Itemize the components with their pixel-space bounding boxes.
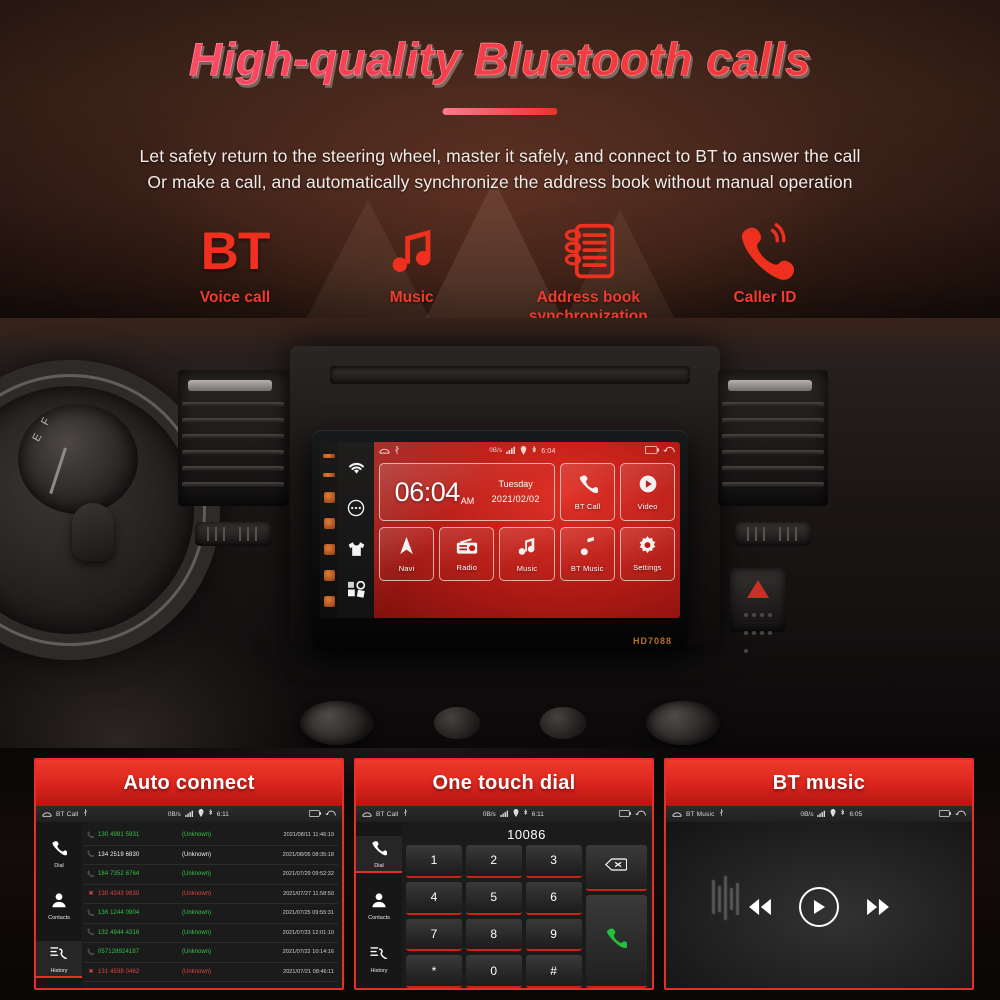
key-9[interactable]: 9 <box>526 919 582 952</box>
battery-icon <box>619 810 631 819</box>
battery-icon <box>645 446 659 456</box>
car-head-unit: 0B/s 6:04 <box>312 430 688 648</box>
phone-handset-icon <box>51 843 67 860</box>
clock-time: 06:04 <box>395 477 460 507</box>
hazard-triangle-icon <box>747 580 769 598</box>
call-timestamp: 2021/07/27 11:58:50 <box>244 891 338 897</box>
console-slot <box>330 366 690 384</box>
subtitle-line-1: Let safety return to the steering wheel,… <box>0 143 1000 169</box>
back-icon[interactable] <box>635 810 646 819</box>
usb-icon <box>83 809 88 819</box>
address-book-icon <box>503 218 673 286</box>
call-history-list[interactable]: 📞 130 4981 5931 (Unknown) 2021/08/11 11:… <box>82 822 342 990</box>
dialpad-side-keys <box>586 845 647 988</box>
double-music-note-icon <box>517 536 537 561</box>
backspace-button[interactable] <box>586 845 647 891</box>
key-7[interactable]: 7 <box>406 919 462 952</box>
call-timestamp: 2021/07/25 09:55:31 <box>244 910 338 916</box>
network-speed: 0B/s <box>168 811 181 818</box>
feature-panels-section: Auto connect BT Call 0B/s <box>0 748 1000 1000</box>
power-button-icon[interactable] <box>324 492 335 503</box>
nav-item-dial[interactable]: Dial <box>356 836 402 873</box>
incoming-call-icon: 📞 <box>84 910 98 917</box>
nav-item-label: Dial <box>36 863 82 869</box>
battery-icon <box>309 810 321 819</box>
panel-title: Auto connect <box>36 760 342 806</box>
backspace-icon <box>605 858 627 876</box>
table-row[interactable]: 📞 132 4944 4316 (Unknown) 2021/07/23 12:… <box>84 924 338 944</box>
album-art-placeholder <box>706 874 754 926</box>
key-1[interactable]: 1 <box>406 845 462 878</box>
feature-music: Music <box>327 218 497 307</box>
nav-item-history[interactable]: History <box>356 941 402 978</box>
clock-meridiem: AM <box>461 496 475 506</box>
panel-content: Dial Contacts History <box>36 822 342 990</box>
status-bar: 0B/s 6:04 <box>379 444 675 458</box>
bluetooth-icon <box>523 809 528 819</box>
navigation-arrow-icon <box>397 536 416 561</box>
table-row[interactable]: 📞 134 2519 6830 (Unknown) 2021/08/05 08:… <box>84 846 338 866</box>
status-app-name: BT Call <box>56 811 79 818</box>
signal-icon <box>500 810 509 819</box>
home-icon <box>42 810 52 819</box>
table-row[interactable]: 📞 130 4981 5931 (Unknown) 2021/08/11 11:… <box>84 826 338 846</box>
climate-button[interactable] <box>540 707 586 739</box>
volume-down-icon[interactable] <box>324 596 335 607</box>
theme-shirt-icon[interactable] <box>347 541 366 557</box>
call-name: (Unknown) <box>182 852 244 858</box>
location-icon <box>520 446 527 457</box>
music-note-icon <box>327 218 497 286</box>
usb-icon <box>394 446 400 457</box>
contacts-person-icon <box>51 895 67 912</box>
signal-icon <box>506 446 516 456</box>
wifi-icon[interactable] <box>348 462 365 475</box>
key-3[interactable]: 3 <box>526 845 582 878</box>
location-icon <box>198 809 204 819</box>
phone-handset-icon <box>578 474 598 499</box>
network-speed: 0B/s <box>489 448 502 454</box>
nav-item-contacts[interactable]: Contacts <box>36 888 82 925</box>
caller-id-phone-icon <box>680 218 850 286</box>
tile-bt-music[interactable]: BT Music <box>560 527 615 581</box>
hero-section: High-quality Bluetooth calls Let safety … <box>0 0 1000 320</box>
head-unit-screen[interactable]: 0B/s 6:04 <box>320 442 680 618</box>
key-8[interactable]: 8 <box>466 919 522 952</box>
call-timestamp: 2021/08/05 08:35:18 <box>244 852 338 858</box>
volume-up-icon[interactable] <box>324 570 335 581</box>
bluetooth-icon <box>208 809 213 819</box>
feature-label: Caller ID <box>680 288 850 307</box>
key-2[interactable]: 2 <box>466 845 522 878</box>
call-number: 131 4598 0462 <box>98 969 182 975</box>
feature-caller-id: Caller ID <box>680 218 850 307</box>
outgoing-call-icon: 📞 <box>84 851 98 858</box>
usb-icon <box>403 809 408 819</box>
clock-widget[interactable]: 06:04AM Tuesday 2021/02/02 <box>379 463 555 521</box>
tile-label: Settings <box>633 563 662 572</box>
rail-indicator <box>323 454 335 458</box>
key-5[interactable]: 5 <box>466 882 522 915</box>
nav-item-label: Contacts <box>36 915 82 921</box>
panel-auto-connect: Auto connect BT Call 0B/s <box>34 758 344 990</box>
status-clock: 6:11 <box>532 811 544 818</box>
head-unit-brand: HD7088 <box>633 636 672 646</box>
panel-screenshot[interactable]: BT Call 0B/s 6:11 <box>36 806 342 990</box>
bt-music-player <box>666 822 972 990</box>
call-name: (Unknown) <box>182 871 244 877</box>
climate-control-knobs <box>300 696 720 750</box>
panel-content <box>666 822 972 990</box>
nav-item-label: History <box>356 968 402 974</box>
apps-grid-icon[interactable] <box>347 581 366 598</box>
vent-control-left[interactable] <box>195 522 271 546</box>
table-row[interactable]: 📞 184 7352 6764 (Unknown) 2021/07/29 09:… <box>84 865 338 885</box>
instrument-cluster <box>18 404 138 514</box>
bt-call-nav: Dial Contacts History <box>36 822 82 990</box>
air-vent-left <box>178 370 288 506</box>
status-clock: 6:11 <box>217 811 229 818</box>
incoming-call-icon: 📞 <box>84 929 98 936</box>
hardware-button-rail[interactable] <box>320 442 338 618</box>
location-icon <box>830 809 836 819</box>
key-hash[interactable]: # <box>526 955 582 988</box>
feature-address-book: Address book synchronization <box>503 218 673 320</box>
dialed-number-display[interactable]: 10086 <box>406 825 647 845</box>
network-speed: 0B/s <box>483 811 496 818</box>
rail-indicator <box>323 473 335 477</box>
call-name: (Unknown) <box>182 930 244 936</box>
gear-icon <box>638 536 657 560</box>
back-icon[interactable] <box>955 810 966 819</box>
tile-navi[interactable]: Navi <box>379 527 434 581</box>
nav-item-label: Dial <box>356 863 402 869</box>
gear-shifter <box>72 503 114 561</box>
call-timestamp: 2021/07/21 08:46:11 <box>244 969 338 975</box>
bluetooth-icon <box>840 809 845 819</box>
more-dots-icon[interactable] <box>347 499 365 517</box>
home-icon <box>672 810 682 819</box>
call-timestamp: 2021/07/29 09:52:32 <box>244 871 338 877</box>
panel-title: BT music <box>666 760 972 806</box>
call-name: (Unknown) <box>182 949 244 955</box>
subtitle-line-2: Or make a call, and automatically synchr… <box>0 169 1000 195</box>
key-0[interactable]: 0 <box>466 955 522 988</box>
call-button[interactable] <box>586 895 647 988</box>
dialpad: 10086 1 2 3 4 5 6 7 8 9 <box>402 822 652 990</box>
promo-page: High-quality Bluetooth calls Let safety … <box>0 0 1000 1000</box>
tile-label: Radio <box>457 563 478 572</box>
play-icon <box>799 887 839 927</box>
call-name: (Unknown) <box>182 891 244 897</box>
panel-screenshot[interactable]: BT Music 0B/s 6:05 <box>666 806 972 990</box>
network-speed: 0B/s <box>800 811 813 818</box>
climate-knob[interactable] <box>646 701 720 745</box>
play-button[interactable] <box>799 887 839 927</box>
incoming-call-icon: 📞 <box>84 832 98 839</box>
air-vent-right <box>718 370 828 506</box>
dialpad-grid: 1 2 3 4 5 6 7 8 9 * 0 # <box>406 845 647 988</box>
status-app-name: BT Call <box>376 811 399 818</box>
vent-highlight <box>188 380 272 391</box>
feature-label: Address book synchronization <box>503 288 673 320</box>
dialpad-keys: 1 2 3 4 5 6 7 8 9 * 0 # <box>406 845 582 988</box>
location-icon <box>513 809 519 819</box>
status-clock: 6:05 <box>849 811 862 818</box>
tile-radio[interactable]: Radio <box>439 527 494 581</box>
hero-subtitle: Let safety return to the steering wheel,… <box>0 143 1000 195</box>
tile-label: Navi <box>399 564 415 573</box>
missed-call-icon: ✖ <box>84 968 98 975</box>
call-number: 132 4944 4316 <box>98 930 182 936</box>
call-name: (Unknown) <box>182 832 244 838</box>
nav-item-dial[interactable]: Dial <box>36 836 82 873</box>
vent-control-right[interactable] <box>735 522 811 546</box>
contacts-person-icon <box>371 895 387 912</box>
panel-screenshot[interactable]: BT Call 0B/s 6:11 <box>356 806 652 990</box>
clock-date-group: Tuesday 2021/02/02 <box>492 477 540 507</box>
page-title: High-quality Bluetooth calls <box>0 32 1000 86</box>
status-app-name: BT Music <box>686 811 715 818</box>
call-timestamp: 2021/07/23 12:01:10 <box>244 930 338 936</box>
call-number: 057128924187 <box>98 949 182 955</box>
key-4[interactable]: 4 <box>406 882 462 915</box>
panel-bt-music: BT music BT Music 0B/s <box>664 758 974 990</box>
nav-item-label: Contacts <box>356 915 402 921</box>
back-icon[interactable] <box>663 446 675 456</box>
home-icon <box>379 446 390 456</box>
next-track-icon[interactable] <box>865 897 891 917</box>
table-row[interactable]: ✖ 130 4343 9830 (Unknown) 2021/07/27 11:… <box>84 885 338 905</box>
single-music-note-icon <box>579 536 596 561</box>
tile-label: BT Call <box>575 502 601 511</box>
home-icon <box>362 810 372 819</box>
clock-weekday: Tuesday <box>492 477 540 492</box>
history-call-icon <box>370 948 388 965</box>
table-row[interactable]: ✖ 131 4598 0462 (Unknown) 2021/07/21 08:… <box>84 963 338 983</box>
clock-time-group: 06:04AM <box>395 478 475 506</box>
tile-label: Video <box>638 502 658 511</box>
radio-icon <box>456 537 478 560</box>
feature-voice-call: BT Voice call <box>150 218 320 307</box>
vent-highlight <box>728 380 812 391</box>
climate-button[interactable] <box>434 707 480 739</box>
call-number: 184 7352 6764 <box>98 871 182 877</box>
speaker-grille <box>742 606 774 660</box>
status-clock: 6:04 <box>541 448 555 455</box>
history-call-icon <box>50 948 68 965</box>
battery-icon <box>939 810 951 819</box>
feature-list: BT Voice call Music <box>150 218 850 318</box>
call-number: 130 4981 5931 <box>98 832 182 838</box>
status-bar: BT Music 0B/s 6:05 <box>666 806 972 822</box>
nav-item-history[interactable]: History <box>36 941 82 978</box>
home-button-icon[interactable] <box>324 518 335 529</box>
title-underline <box>443 108 558 115</box>
incoming-call-icon: 📞 <box>84 871 98 878</box>
table-row[interactable]: 📞 136 1244 0904 (Unknown) 2021/07/25 09:… <box>84 904 338 924</box>
phone-handset-icon <box>371 843 387 860</box>
bt-call-nav: Dial Contacts History <box>356 822 402 990</box>
call-timestamp: 2021/08/11 11:46:19 <box>244 832 338 838</box>
panel-content: Dial Contacts History <box>356 822 652 990</box>
green-call-icon <box>605 927 627 954</box>
panel-one-touch-dial: One touch dial BT Call 0B/s <box>354 758 654 990</box>
back-icon[interactable] <box>325 810 336 819</box>
status-bar: BT Call 0B/s 6:11 <box>36 806 342 822</box>
home-row-bottom: Navi Radio Music <box>379 527 675 581</box>
tile-label: Music <box>517 564 538 573</box>
incoming-call-icon: 📞 <box>84 949 98 956</box>
hazard-light-button[interactable] <box>730 568 786 632</box>
call-number: 130 4343 9830 <box>98 891 182 897</box>
key-star[interactable]: * <box>406 955 462 988</box>
screen-side-dock[interactable] <box>338 442 374 618</box>
call-number: 136 1244 0904 <box>98 910 182 916</box>
tile-video[interactable]: Video <box>620 463 675 521</box>
play-circle-icon <box>638 474 658 499</box>
call-timestamp: 2021/07/22 10:14:16 <box>244 949 338 955</box>
clock-date: 2021/02/02 <box>492 492 540 507</box>
tile-settings[interactable]: Settings <box>620 527 675 581</box>
bt-text-glyph: BT <box>201 224 270 280</box>
call-name: (Unknown) <box>182 910 244 916</box>
signal-icon <box>817 810 826 819</box>
back-button-icon[interactable] <box>324 544 335 555</box>
bt-text-icon: BT <box>150 218 320 286</box>
climate-knob[interactable] <box>300 701 374 745</box>
call-number: 134 2519 6830 <box>98 852 182 858</box>
bluetooth-icon <box>531 446 537 457</box>
tile-label: BT Music <box>571 564 604 573</box>
missed-call-icon: ✖ <box>84 890 98 897</box>
tile-music[interactable]: Music <box>499 527 554 581</box>
nav-item-label: History <box>36 968 82 974</box>
home-row-top: 06:04AM Tuesday 2021/02/02 BT Call <box>379 463 675 521</box>
feature-label: Voice call <box>150 288 320 307</box>
table-row[interactable]: 📞 057128924187 (Unknown) 2021/07/22 10:1… <box>84 943 338 963</box>
call-name: (Unknown) <box>182 969 244 975</box>
usb-icon <box>719 809 724 819</box>
nav-item-contacts[interactable]: Contacts <box>356 888 402 925</box>
tile-bt-call[interactable]: BT Call <box>560 463 615 521</box>
head-unit-home: 0B/s 6:04 <box>374 442 680 618</box>
panel-title: One touch dial <box>356 760 652 806</box>
key-6[interactable]: 6 <box>526 882 582 915</box>
signal-icon <box>185 810 194 819</box>
feature-label: Music <box>327 288 497 307</box>
status-bar: BT Call 0B/s 6:11 <box>356 806 652 822</box>
